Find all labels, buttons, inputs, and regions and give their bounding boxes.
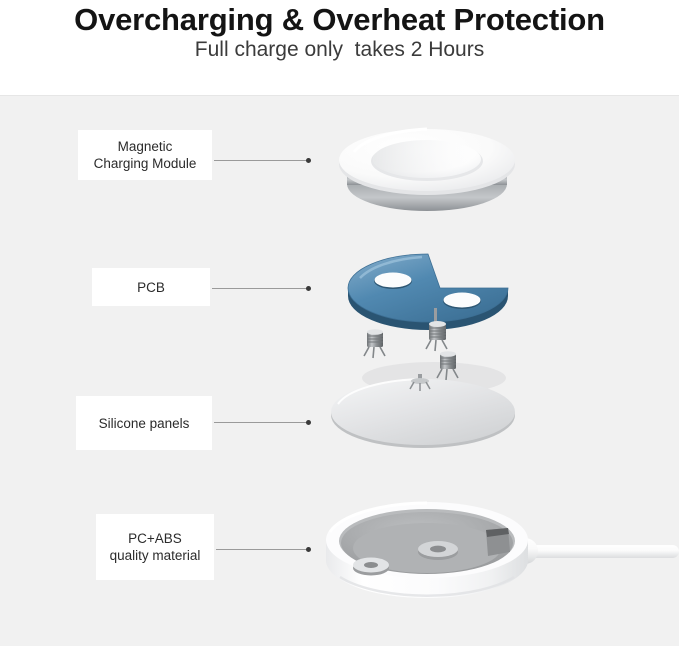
screw-boss-left [353, 558, 389, 576]
leader-dot-pcb [306, 286, 311, 291]
leader-dot-magnetic-charging-module [306, 158, 311, 163]
screw-boss-center [418, 541, 458, 560]
leader-line-pcb [212, 288, 310, 289]
product-infographic: Overcharging & Overheat Protection Full … [0, 0, 679, 646]
screw-2 [364, 329, 385, 358]
part-magnetic-charging-module [332, 112, 522, 222]
label-silicone-panels: Silicone panels [76, 396, 212, 450]
label-pc-abs-quality-material: PC+ABS quality material [96, 514, 214, 580]
label-pcb: PCB [92, 268, 210, 306]
part-pc-abs-housing [318, 482, 679, 627]
page-subtitle: Full charge only takes 2 Hours [0, 38, 679, 62]
page-title: Overcharging & Overheat Protection [0, 2, 679, 38]
label-magnetic-charging-module: Magnetic Charging Module [78, 130, 212, 180]
leader-dot-silicone-panels [306, 420, 311, 425]
header: Overcharging & Overheat Protection Full … [0, 0, 679, 95]
panel-divider [0, 95, 679, 96]
leader-line-silicone-panels [214, 422, 310, 423]
leader-line-magnetic-charging-module [214, 160, 310, 161]
leader-line-pc-abs-quality-material [216, 549, 310, 550]
part-silicone-panels [326, 374, 521, 454]
leader-dot-pc-abs-quality-material [306, 547, 311, 552]
